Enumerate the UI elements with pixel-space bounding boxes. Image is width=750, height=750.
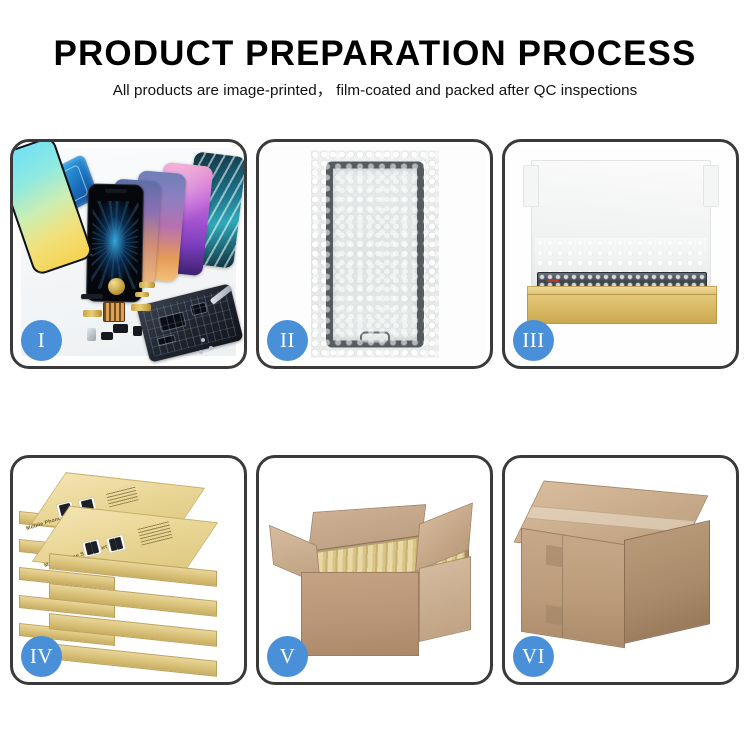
part-vibration-motor — [108, 278, 125, 295]
part-mesh-grid — [103, 302, 125, 322]
screen-red-marker — [547, 279, 559, 282]
carton-front-face — [301, 572, 419, 656]
sealed-carton-front-face — [521, 528, 625, 648]
step-badge-vi: VI — [513, 636, 554, 677]
carton-side-face — [419, 556, 471, 642]
part-flex-cable-b — [135, 292, 149, 297]
step-panel-iii: III — [502, 139, 739, 369]
carton-flap-seam-upper — [546, 545, 562, 568]
screw-c — [199, 350, 203, 354]
board-chip-small — [190, 302, 208, 317]
part-sim-tray — [87, 328, 96, 341]
kraft-tray-front — [527, 294, 717, 324]
step-panel-v: V — [256, 455, 493, 685]
part-connector — [101, 332, 113, 340]
carton-flap-seam-lower — [546, 605, 562, 626]
step-panel-vi: VI — [502, 455, 739, 685]
sealed-carton-side-face — [624, 520, 710, 644]
part-flex-cable-d — [83, 310, 102, 317]
step-panel-iv: Mobile Phone Spare Parts Mobile Phone Sp… — [10, 455, 247, 685]
step-badge-i: I — [21, 320, 62, 361]
page-title: PRODUCT PREPARATION PROCESS — [0, 34, 750, 73]
part-camera-module — [113, 324, 128, 333]
board-chip-large — [158, 311, 187, 332]
part-button-module — [133, 326, 142, 336]
bubble-wrap-sheet — [311, 151, 439, 358]
step-panel-ii: II — [256, 139, 493, 369]
screw-b — [209, 346, 213, 350]
part-flex-cable-a — [139, 282, 155, 288]
product-preparation-process-page: PRODUCT PREPARATION PROCESS All products… — [0, 0, 750, 750]
page-header: PRODUCT PREPARATION PROCESS All products… — [0, 34, 750, 100]
step-badge-v: V — [267, 636, 308, 677]
part-flex-cable-c — [131, 304, 151, 311]
step-badge-ii: II — [267, 320, 308, 361]
wrapped-phone-screen — [326, 161, 424, 347]
step-panel-i: I — [10, 139, 247, 369]
process-steps-grid: I II III — [10, 139, 740, 685]
step-badge-iii: III — [513, 320, 554, 361]
board-chip-tiny — [157, 334, 176, 346]
screw-a — [201, 338, 205, 342]
step-badge-iv: IV — [21, 636, 62, 677]
stack-edge-r4 — [49, 643, 217, 677]
page-subtitle: All products are image-printed， film-coa… — [0, 82, 750, 100]
part-speaker-bar — [81, 294, 103, 299]
carton-front-seam — [562, 535, 563, 637]
